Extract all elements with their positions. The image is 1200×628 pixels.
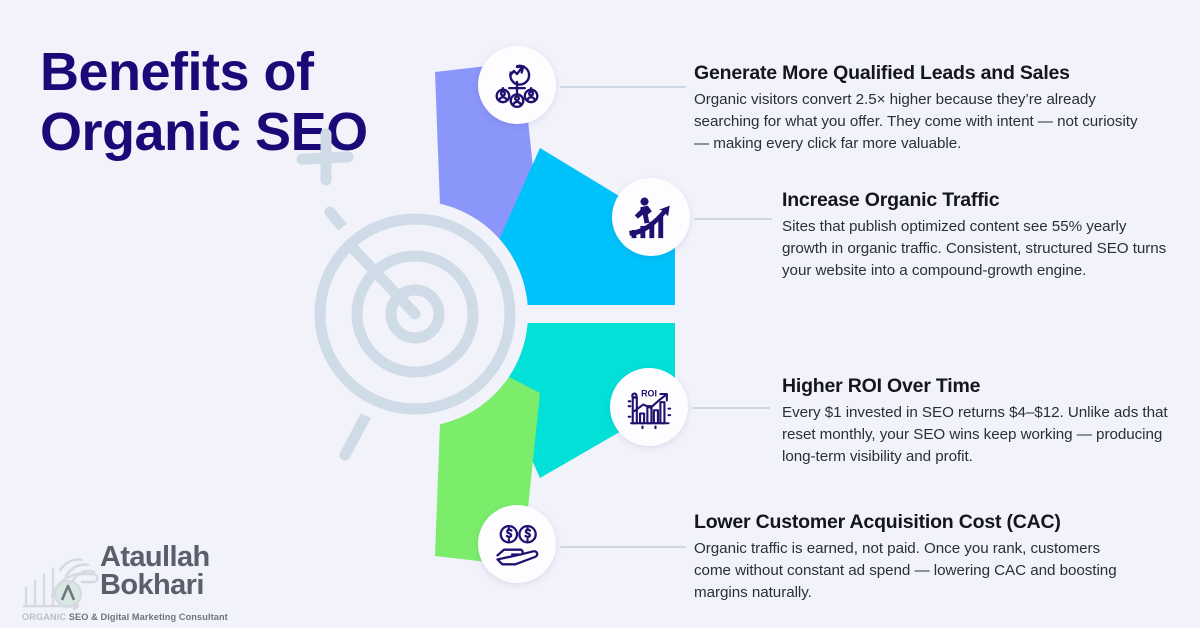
connector-line-1: [560, 86, 686, 88]
benefit-block-qualified-leads: Generate More Qualified Leads and Sales …: [694, 62, 1146, 155]
people-network-growth-icon: [492, 60, 542, 110]
svg-text:ROI: ROI: [641, 388, 657, 398]
benefit-title: Lower Customer Acquisition Cost (CAC): [694, 511, 1124, 534]
segment-gaps: [529, 52, 558, 574]
benefit-title: Generate More Qualified Leads and Sales: [694, 62, 1146, 85]
hand-dollar-coins-icon: [491, 518, 543, 570]
benefit-title: Increase Organic Traffic: [782, 189, 1174, 212]
logo-tagline: ORGANIC SEO & Digital Marketing Consulta…: [22, 612, 228, 622]
benefit-body: Sites that publish optimized content see…: [782, 216, 1174, 282]
benefit-body: Every $1 invested in SEO returns $4–$12.…: [782, 402, 1174, 468]
runner-bar-chart-arrow-icon: [625, 191, 677, 243]
icon-badge-lower-cac[interactable]: [478, 505, 556, 583]
icon-badge-higher-roi[interactable]: ROI: [610, 368, 688, 446]
benefit-body: Organic traffic is earned, not paid. Onc…: [694, 538, 1124, 604]
logo-tagline-text: SEO & Digital Marketing Consultant: [69, 612, 228, 622]
connector-line-3: [692, 407, 770, 409]
brand-logo[interactable]: Ataullah Bokhari ORGANIC SEO & Digital M…: [22, 542, 252, 624]
logo-bar-chart-hand-icon: [22, 548, 106, 614]
logo-tagline-accent: ORGANIC: [22, 612, 66, 622]
connector-line-4: [560, 546, 686, 548]
benefit-body: Organic visitors convert 2.5× higher bec…: [694, 89, 1146, 155]
benefit-block-organic-traffic: Increase Organic Traffic Sites that publ…: [782, 189, 1174, 282]
benefit-block-higher-roi: Higher ROI Over Time Every $1 invested i…: [782, 375, 1174, 468]
roi-bar-chart-icon: ROI: [623, 381, 675, 433]
connector-line-2: [694, 218, 772, 220]
benefit-block-lower-cac: Lower Customer Acquisition Cost (CAC) Or…: [694, 511, 1124, 604]
logo-wordmark: Ataullah Bokhari: [100, 544, 210, 600]
benefit-title: Higher ROI Over Time: [782, 375, 1174, 398]
icon-badge-qualified-leads[interactable]: [478, 46, 556, 124]
icon-badge-organic-traffic[interactable]: [612, 178, 690, 256]
